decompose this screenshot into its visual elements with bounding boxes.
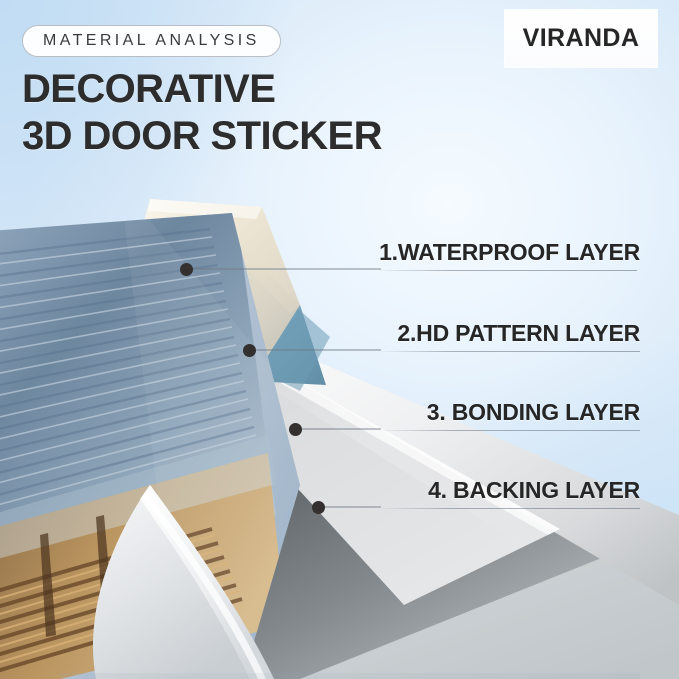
callout-label-text: 4. BACKING LAYER	[382, 477, 640, 504]
callout-dot-hd-pattern	[243, 344, 256, 357]
section-badge-label: MATERIAL ANALYSIS	[43, 32, 260, 50]
callout-underline	[379, 270, 637, 271]
section-badge: MATERIAL ANALYSIS	[22, 25, 281, 57]
callout-label-text: 1.WATERPROOF LAYER	[379, 239, 640, 266]
title-line-2: 3D DOOR STICKER	[22, 113, 382, 160]
brand-logo-text: VIRANDA	[523, 24, 640, 53]
callout-label-backing: 4. BACKING LAYER	[382, 477, 640, 509]
callout-underline	[382, 351, 640, 352]
callout-dot-backing	[312, 501, 325, 514]
callout-label-text: 3. BONDING LAYER	[382, 399, 640, 426]
callout-label-hd-pattern: 2.HD PATTERN LAYER	[382, 320, 640, 352]
brand-logo: VIRANDA	[505, 10, 657, 67]
callout-dot-waterproof	[180, 263, 193, 276]
page-title: DECORATIVE 3D DOOR STICKER	[22, 66, 382, 160]
callout-underline	[382, 508, 640, 509]
title-line-1: DECORATIVE	[22, 66, 382, 113]
callout-label-bonding: 3. BONDING LAYER	[382, 399, 640, 431]
callout-underline	[382, 430, 640, 431]
callout-label-waterproof: 1.WATERPROOF LAYER	[379, 239, 640, 271]
callout-dot-bonding	[289, 423, 302, 436]
callout-label-text: 2.HD PATTERN LAYER	[382, 320, 640, 347]
infographic-canvas: MATERIAL ANALYSIS DECORATIVE 3D DOOR STI…	[0, 0, 679, 679]
